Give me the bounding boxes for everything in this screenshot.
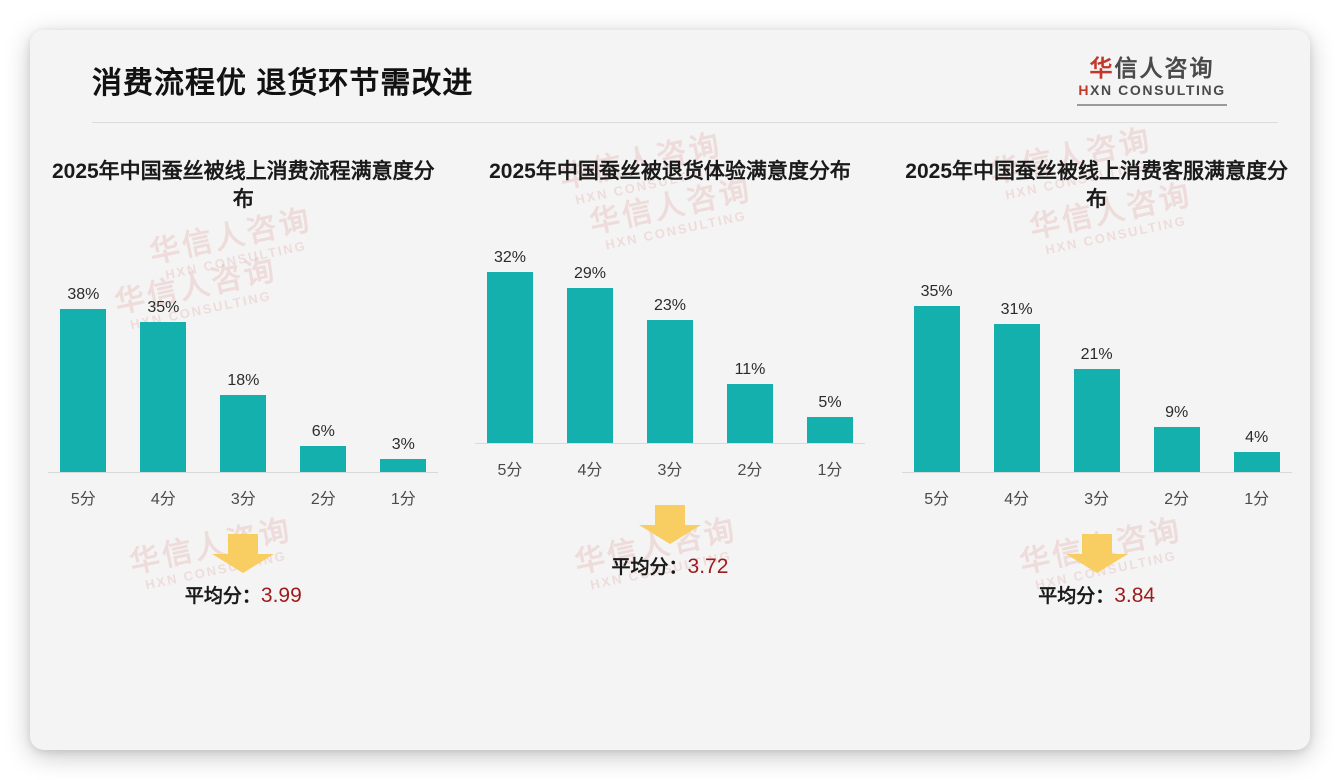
bar-value-label: 32%	[494, 249, 526, 267]
bar-item[interactable]: 21%	[1066, 264, 1128, 472]
x-axis-line	[902, 472, 1292, 473]
bar-chart-3: 35% 31% 21% 9%	[902, 265, 1292, 515]
average-score-line: 平均分：3.72	[475, 552, 865, 579]
x-tick-labels: 5分 4分 3分 2分 1分	[48, 485, 438, 509]
bar-item[interactable]: 9%	[1146, 264, 1208, 472]
x-tick: 4分	[986, 485, 1048, 509]
bar-rect[interactable]	[487, 272, 533, 443]
average-block-1: 平均分：3.99	[48, 533, 438, 608]
bar-value-label: 31%	[1001, 301, 1033, 319]
logo-en-red: H	[1078, 82, 1090, 98]
x-tick: 2分	[292, 485, 354, 509]
bars-group: 32% 29% 23% 11%	[475, 235, 865, 443]
bar-rect[interactable]	[140, 322, 186, 472]
x-tick: 1分	[799, 456, 861, 480]
bar-rect[interactable]	[1154, 427, 1200, 472]
average-label: 平均分：	[1038, 586, 1114, 607]
header-divider	[92, 122, 1278, 123]
average-block-3: 平均分：3.84	[902, 533, 1292, 608]
down-arrow-icon	[1064, 534, 1130, 574]
bar-item[interactable]: 11%	[719, 235, 781, 443]
x-tick: 2分	[1146, 485, 1208, 509]
average-value: 3.84	[1114, 584, 1155, 607]
bar-value-label: 21%	[1081, 346, 1113, 364]
x-tick: 5分	[52, 485, 114, 509]
average-score-line: 平均分：3.99	[48, 581, 438, 608]
bar-value-label: 35%	[921, 283, 953, 301]
average-label: 平均分：	[185, 586, 261, 607]
x-tick: 4分	[132, 485, 194, 509]
bar-rect[interactable]	[380, 459, 426, 472]
logo-cn-rest: 信人咨询	[1115, 55, 1215, 81]
bar-value-label: 4%	[1245, 429, 1268, 447]
arrow-wrap	[48, 533, 438, 575]
x-tick: 4分	[559, 456, 621, 480]
average-value: 3.72	[688, 555, 729, 578]
x-tick: 2分	[719, 456, 781, 480]
x-tick: 3分	[212, 485, 274, 509]
page-title: 消费流程优 退货环节需改进	[92, 58, 473, 102]
bar-item[interactable]: 29%	[559, 235, 621, 443]
bar-value-label: 5%	[818, 394, 841, 412]
bar-item[interactable]: 18%	[212, 264, 274, 472]
x-axis-line	[475, 443, 865, 444]
bar-chart-2: 32% 29% 23% 11%	[475, 236, 865, 486]
bar-value-label: 9%	[1165, 404, 1188, 422]
chart-panel-3: 2025年中国蚕丝被线上消费客服满意度分布 35% 31% 21	[883, 130, 1310, 608]
chart-title-3: 2025年中国蚕丝被线上消费客服满意度分布	[902, 158, 1292, 215]
bar-value-label: 23%	[654, 297, 686, 315]
bar-rect[interactable]	[567, 288, 613, 443]
charts-row: 2025年中国蚕丝被线上消费流程满意度分布 38% 35% 18	[30, 130, 1310, 608]
bar-item[interactable]: 31%	[986, 264, 1048, 472]
bar-value-label: 3%	[392, 436, 415, 454]
bar-rect[interactable]	[1074, 369, 1120, 472]
chart-panel-2: 2025年中国蚕丝被退货体验满意度分布 32% 29% 23%	[457, 130, 884, 608]
bar-item[interactable]: 5%	[799, 235, 861, 443]
average-label: 平均分：	[612, 557, 688, 578]
x-tick-labels: 5分 4分 3分 2分 1分	[902, 485, 1292, 509]
bar-rect[interactable]	[60, 309, 106, 472]
bar-item[interactable]: 38%	[52, 264, 114, 472]
bar-rect[interactable]	[994, 324, 1040, 472]
bar-value-label: 6%	[312, 423, 335, 441]
bar-item[interactable]: 32%	[479, 235, 541, 443]
logo-en-rest: XN CONSULTING	[1090, 82, 1226, 98]
chart-title-2: 2025年中国蚕丝被退货体验满意度分布	[475, 158, 865, 186]
logo-chinese: 华信人咨询	[1062, 55, 1242, 81]
bar-item[interactable]: 6%	[292, 264, 354, 472]
average-score-line: 平均分：3.84	[902, 581, 1292, 608]
bar-item[interactable]: 35%	[906, 264, 968, 472]
down-arrow-icon	[210, 534, 276, 574]
down-arrow-icon	[637, 505, 703, 545]
bar-rect[interactable]	[914, 306, 960, 472]
chart-title-1: 2025年中国蚕丝被线上消费流程满意度分布	[48, 158, 438, 215]
slide: 华信人咨询 HXN CONSULTING 华信人咨询 HXN CONSULTIN…	[30, 30, 1310, 750]
bar-chart-1: 38% 35% 18% 6%	[48, 265, 438, 515]
bar-rect[interactable]	[647, 320, 693, 443]
bars-group: 38% 35% 18% 6%	[48, 264, 438, 472]
bar-rect[interactable]	[220, 395, 266, 472]
bars-group: 35% 31% 21% 9%	[902, 264, 1292, 472]
bar-value-label: 29%	[574, 265, 606, 283]
brand-logo: 华信人咨询 HXN CONSULTING	[1062, 55, 1242, 106]
x-tick-labels: 5分 4分 3分 2分 1分	[475, 456, 865, 480]
average-block-2: 平均分：3.72	[475, 504, 865, 579]
bar-rect[interactable]	[727, 384, 773, 443]
bar-value-label: 38%	[67, 286, 99, 304]
bar-rect[interactable]	[300, 446, 346, 472]
average-value: 3.99	[261, 584, 302, 607]
x-tick: 5分	[479, 456, 541, 480]
bar-item[interactable]: 3%	[372, 264, 434, 472]
bar-value-label: 11%	[735, 361, 766, 379]
x-tick: 5分	[906, 485, 968, 509]
arrow-wrap	[902, 533, 1292, 575]
bar-value-label: 35%	[147, 299, 179, 317]
x-axis-line	[48, 472, 438, 473]
x-tick: 1分	[372, 485, 434, 509]
slide-header: 消费流程优 退货环节需改进 华信人咨询 HXN CONSULTING	[30, 30, 1310, 122]
arrow-wrap	[475, 504, 865, 546]
logo-underline	[1077, 104, 1227, 106]
x-tick: 3分	[1066, 485, 1128, 509]
x-tick: 3分	[639, 456, 701, 480]
bar-rect[interactable]	[1234, 452, 1280, 472]
bar-item[interactable]: 4%	[1226, 264, 1288, 472]
bar-item[interactable]: 35%	[132, 264, 194, 472]
x-tick: 1分	[1226, 485, 1288, 509]
bar-rect[interactable]	[807, 417, 853, 443]
chart-panel-1: 2025年中国蚕丝被线上消费流程满意度分布 38% 35% 18	[30, 130, 457, 608]
logo-cn-red: 华	[1090, 55, 1115, 81]
bar-value-label: 18%	[227, 372, 259, 390]
logo-english: HXN CONSULTING	[1062, 81, 1242, 101]
bar-item[interactable]: 23%	[639, 235, 701, 443]
